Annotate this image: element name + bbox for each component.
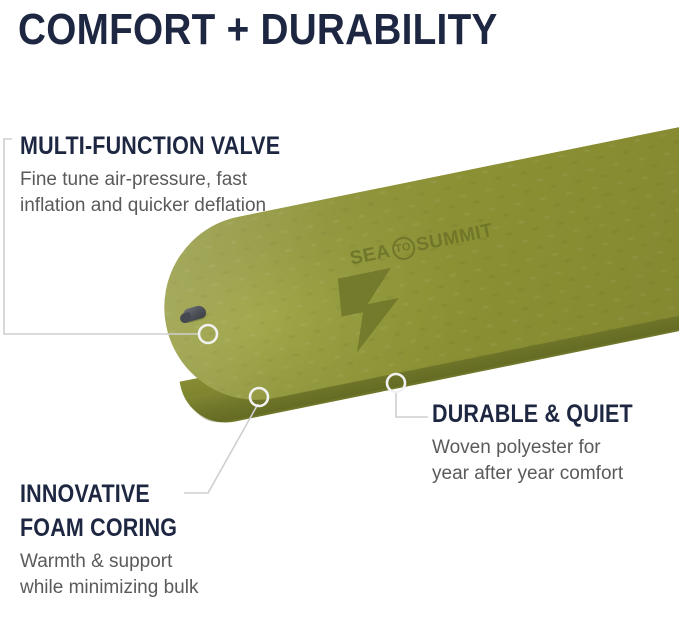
callout-body-innovative-foam-coring: Warmth & support while minimizing bulk — [20, 549, 203, 601]
multi-function-valve-body — [182, 304, 208, 323]
callout-body-multi-function-valve: Fine tune air-pressure, fast inflation a… — [20, 167, 323, 219]
leader-line-foam — [184, 404, 258, 493]
brand-word-to: TO — [390, 235, 417, 262]
fabric-marker-ring — [387, 374, 405, 392]
page-title: COMFORT + DURABILITY — [18, 4, 498, 56]
callout-multi-function-valve: MULTI-FUNCTION VALVE Fine tune air-press… — [20, 133, 323, 219]
brand-lockup: SEA TO SUMMIT — [348, 219, 495, 271]
product-infographic: COMFORT + DURABILITY SEA TO SUMMIT — [0, 0, 679, 618]
callout-heading-durable-and-quiet: DURABLE & QUIET — [432, 401, 633, 428]
brand-word-summit: SUMMIT — [414, 219, 495, 256]
leader-line-durable — [396, 392, 428, 417]
brand-word-sea: SEA — [348, 240, 392, 270]
foam-marker-ring — [250, 388, 268, 406]
callout-innovative-foam-coring: INNOVATIVE FOAM CORING Warmth & support … — [20, 481, 203, 601]
callout-heading-foam-line-1: INNOVATIVE — [20, 481, 177, 508]
multi-function-valve-cap — [179, 312, 192, 325]
mountain-flag-logo-icon — [332, 254, 465, 362]
callout-body-durable-and-quiet: Woven polyester for year after year comf… — [432, 435, 666, 487]
callout-durable-and-quiet: DURABLE & QUIET Woven polyester for year… — [432, 401, 666, 487]
callout-heading-foam-line-2: FOAM CORING — [20, 515, 177, 542]
callout-heading-multi-function-valve: MULTI-FUNCTION VALVE — [20, 133, 280, 160]
valve-marker-ring — [199, 325, 217, 343]
brand-wordmark: SEA TO SUMMIT — [348, 219, 495, 271]
